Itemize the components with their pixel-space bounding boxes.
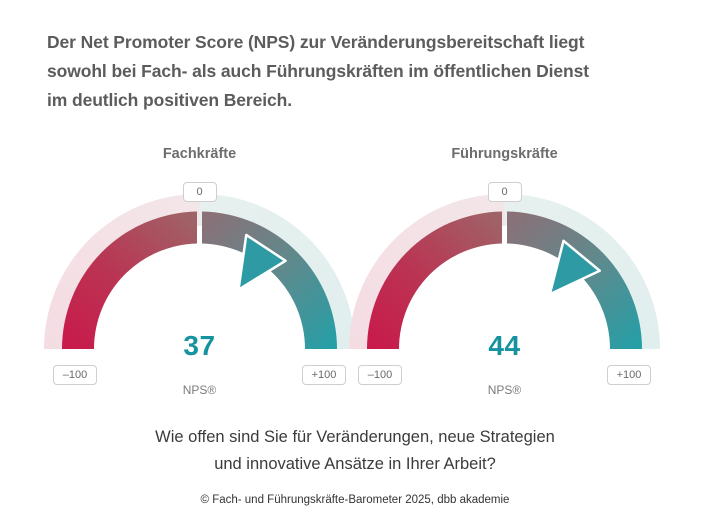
gauge-unit-label: NPS® (327, 383, 682, 397)
survey-question: Wie offen sind Sie für Veränderungen, ne… (55, 424, 655, 478)
question-line-1: Wie offen sind Sie für Veränderungen, ne… (55, 424, 655, 451)
gauge-arc-negative (367, 212, 502, 350)
gauge-arc-negative (62, 212, 197, 350)
headline-line-3: im deutlich positiven Bereich. (47, 86, 677, 115)
gauge-unit-label: NPS® (22, 383, 377, 397)
gauge-value: 37 (22, 330, 377, 362)
gauge-title: Führungskräfte (327, 146, 682, 162)
gauge-max-badge: +100 (607, 365, 651, 385)
gauge-group: Fachkräfte (0, 140, 710, 410)
gauge-fuehrungskraefte: Führungskräfte (327, 140, 682, 410)
gauge-mid-badge: 0 (183, 182, 217, 202)
gauge-title: Fachkräfte (22, 146, 377, 162)
headline-line-2: sowohl bei Fach- als auch Führungskräfte… (47, 57, 677, 86)
copyright-notice: © Fach- und Führungskräfte-Barometer 202… (55, 494, 655, 506)
gauge-fachkraefte: Fachkräfte (22, 140, 377, 410)
gauge-min-badge: –100 (358, 365, 402, 385)
question-line-2: und innovative Ansätze in Ihrer Arbeit? (55, 451, 655, 478)
page-title: Der Net Promoter Score (NPS) zur Verände… (47, 28, 677, 115)
gauge-mid-badge: 0 (488, 182, 522, 202)
gauge-arc-positive (202, 212, 337, 350)
headline-line-1: Der Net Promoter Score (NPS) zur Verände… (47, 28, 677, 57)
gauge-min-badge: –100 (53, 365, 97, 385)
gauge-value: 44 (327, 330, 682, 362)
